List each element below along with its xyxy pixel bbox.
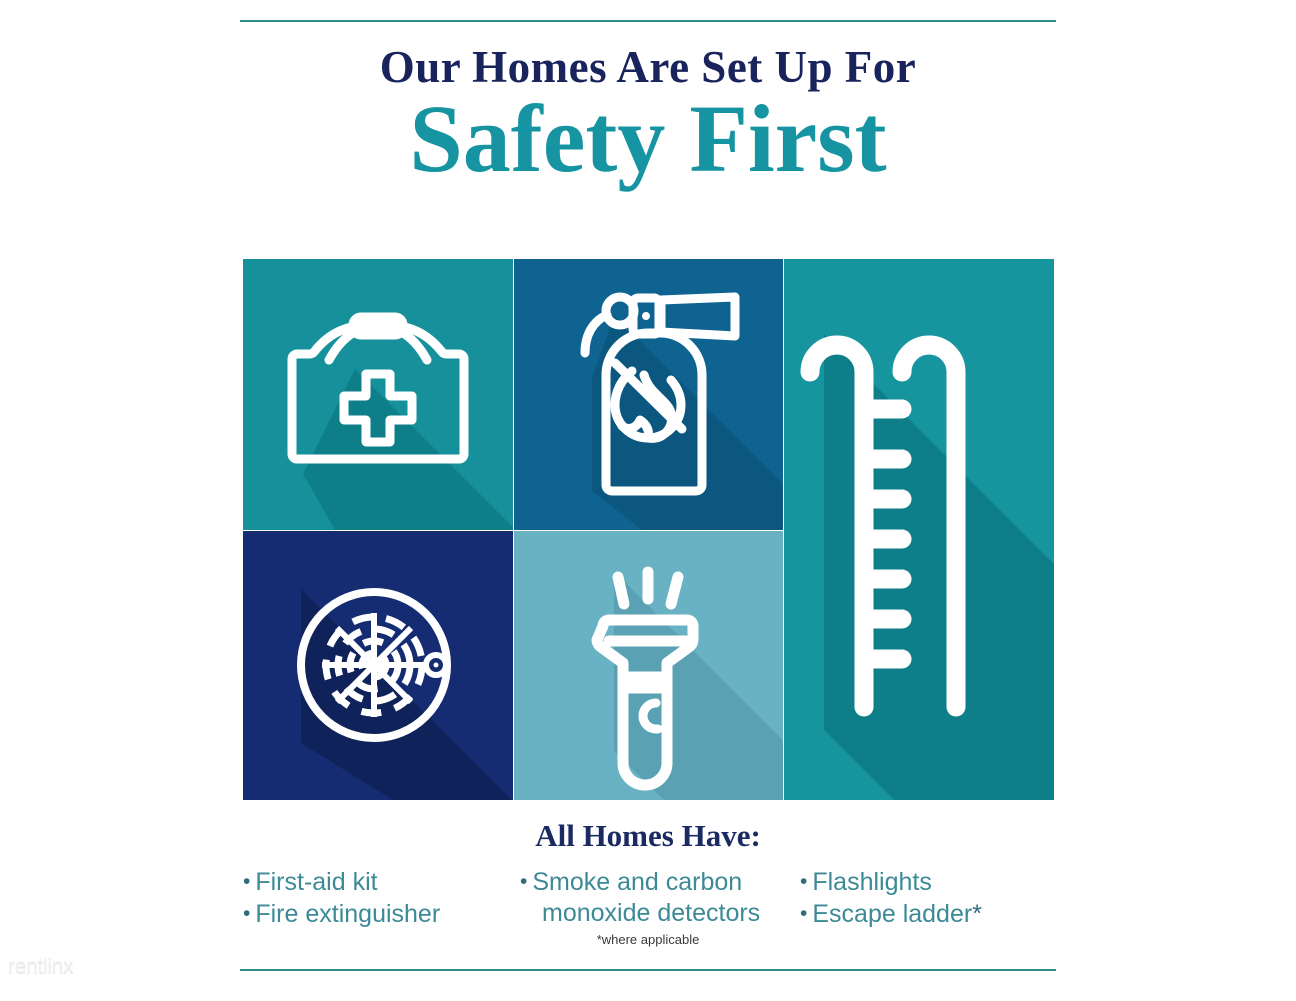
safety-items-columns: •First-aid kit •Fire extinguisher •Smoke… (240, 866, 1056, 936)
list-item-label: First-aid kit (255, 868, 377, 896)
escape-ladder-icon (784, 259, 1054, 800)
rentlinx-watermark: rentlinx (8, 955, 73, 979)
poster-heading: Our Homes Are Set Up For Safety First (0, 44, 1296, 190)
list-item-label: Smoke and carbon (532, 868, 742, 896)
safety-items-column-3: •Flashlights •Escape ladder* (800, 866, 1050, 930)
list-item: •Fire extinguisher (243, 898, 503, 930)
first-aid-kit-icon (243, 259, 513, 530)
tile-smoke-detector (243, 531, 513, 800)
safety-items-column-2: •Smoke and carbon monoxide detectors (520, 866, 780, 929)
tile-escape-ladder (784, 259, 1054, 800)
smoke-detector-icon (243, 531, 513, 800)
fire-extinguisher-icon (514, 259, 783, 530)
bullet-icon: • (800, 902, 807, 925)
list-item: •Smoke and carbon (520, 866, 780, 898)
list-item-label: monoxide detectors (542, 899, 760, 927)
tile-flashlight (514, 531, 783, 800)
list-item-label: Fire extinguisher (255, 900, 440, 928)
footnote: *where applicable (0, 932, 1296, 947)
bullet-icon: • (243, 902, 250, 925)
list-item-label: Escape ladder (812, 900, 972, 928)
bottom-divider (240, 969, 1056, 971)
list-item: monoxide detectors (520, 898, 780, 929)
list-item-label: Flashlights (812, 868, 932, 896)
safety-first-poster: Our Homes Are Set Up For Safety First (0, 0, 1296, 1001)
list-item: •Flashlights (800, 866, 1050, 898)
bullet-icon: • (800, 870, 807, 893)
bullet-icon: • (243, 870, 250, 893)
heading-line-1: Our Homes Are Set Up For (0, 44, 1296, 91)
asterisk-marker: * (972, 900, 982, 928)
icon-grid (243, 259, 1054, 800)
top-divider (240, 20, 1056, 22)
list-item: •First-aid kit (243, 866, 503, 898)
tile-fire-extinguisher (514, 259, 783, 530)
list-item: •Escape ladder* (800, 898, 1050, 930)
safety-items-column-1: •First-aid kit •Fire extinguisher (243, 866, 503, 930)
bullet-icon: • (520, 870, 527, 893)
tile-first-aid-kit (243, 259, 513, 530)
all-homes-have-heading: All Homes Have: (0, 818, 1296, 854)
heading-line-2: Safety First (0, 89, 1296, 190)
flashlight-icon (514, 531, 783, 800)
